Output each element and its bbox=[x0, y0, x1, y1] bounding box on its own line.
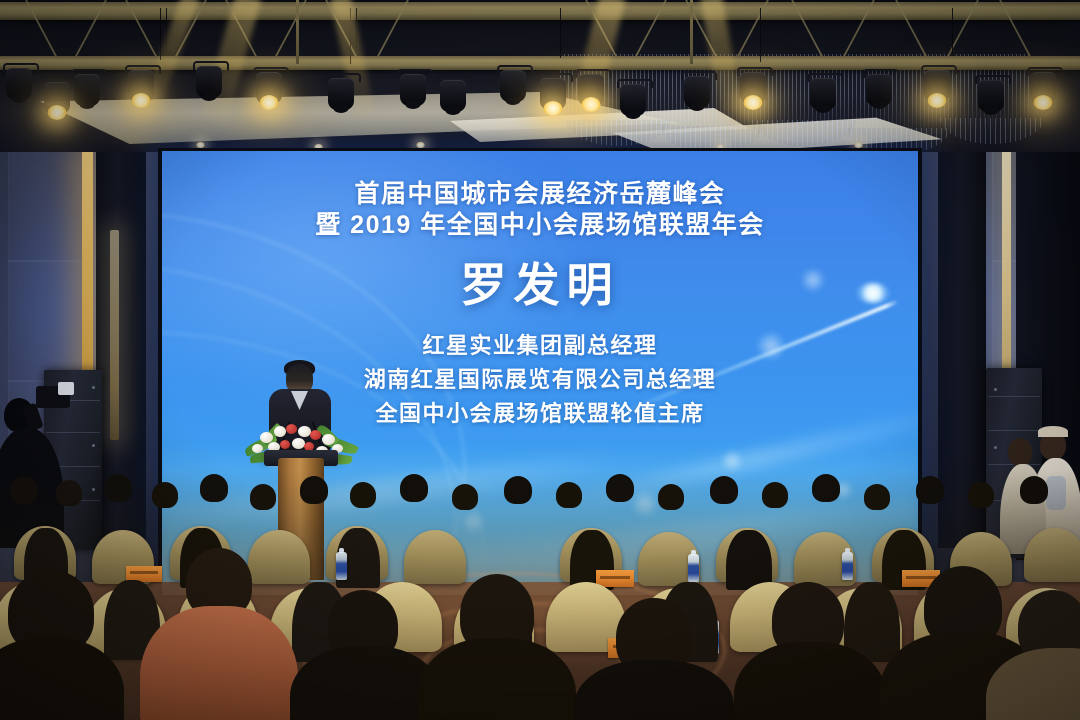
credential-line-3: 全国中小会展场馆联盟轮值主席 bbox=[364, 397, 717, 431]
truss-rail-lower bbox=[0, 56, 1080, 70]
audience-head bbox=[300, 476, 328, 504]
foreground-attendee-orange-coat bbox=[138, 548, 298, 720]
audience-head bbox=[916, 476, 944, 504]
water-bottle bbox=[336, 552, 347, 580]
credential-line-1: 红星实业集团副总经理 bbox=[364, 329, 717, 363]
audience-head bbox=[762, 482, 788, 508]
truss-rail-top bbox=[0, 2, 1080, 20]
audience-head bbox=[452, 484, 478, 510]
audience-head bbox=[56, 480, 82, 506]
stage-light-5 bbox=[256, 72, 282, 104]
foreground-attendee bbox=[582, 598, 722, 720]
stage-light-1 bbox=[6, 68, 32, 100]
stage-light-2 bbox=[74, 74, 100, 106]
water-bottle bbox=[842, 552, 853, 580]
screen-title-line-1: 首届中国城市会展经济岳麓峰会 bbox=[354, 179, 725, 210]
conference-photo-scene: 首届中国城市会展经济岳麓峰会 暨 2019 年全国中小会展场馆联盟年会 罗发明 … bbox=[0, 0, 1080, 720]
screen-title-line-2: 暨 2019 年全国中小会展场馆联盟年会 bbox=[315, 210, 765, 241]
screen-speaker-name: 罗发明 bbox=[461, 260, 620, 311]
stage-light-18 bbox=[44, 82, 70, 114]
audience-head bbox=[152, 482, 178, 508]
foreground-attendee bbox=[1000, 590, 1080, 720]
audience-head bbox=[350, 482, 376, 508]
stage-light-9 bbox=[578, 74, 604, 106]
audience-head bbox=[812, 474, 840, 502]
stage-light-7 bbox=[400, 74, 426, 106]
ceiling-lighting-rig bbox=[0, 0, 1080, 152]
audience-person bbox=[726, 530, 772, 590]
name-card bbox=[596, 570, 634, 587]
audience-head bbox=[1020, 476, 1048, 504]
foreground-attendee bbox=[0, 570, 110, 720]
audience-head bbox=[250, 484, 276, 510]
audience-head bbox=[710, 476, 738, 504]
left-inner-amber-strip bbox=[110, 230, 119, 440]
audience-head bbox=[200, 474, 228, 502]
foreground-attendee bbox=[424, 574, 564, 720]
stage-light-15 bbox=[924, 70, 950, 102]
audience-head bbox=[968, 482, 994, 508]
stage-light-8 bbox=[440, 80, 466, 112]
stage-light-16 bbox=[1030, 72, 1056, 104]
stage-light-4 bbox=[196, 66, 222, 98]
water-bottle bbox=[688, 554, 699, 582]
audience-head bbox=[658, 484, 684, 510]
stage-light-11 bbox=[684, 76, 710, 108]
audience-head bbox=[10, 476, 38, 504]
foreground-attendee bbox=[300, 590, 430, 720]
audience-head bbox=[104, 474, 132, 502]
credential-line-2: 湖南红星国际展览有限公司总经理 bbox=[364, 363, 717, 397]
audience-head bbox=[556, 482, 582, 508]
audience-seating bbox=[0, 470, 1080, 720]
stage-light-19 bbox=[500, 70, 526, 102]
foreground-attendee bbox=[744, 582, 874, 720]
stage-light-14 bbox=[866, 74, 892, 106]
stage-light-17 bbox=[978, 80, 1004, 112]
audience-head bbox=[606, 474, 634, 502]
stage-light-12 bbox=[740, 72, 766, 104]
stage-light-10 bbox=[620, 84, 646, 116]
audience-head bbox=[504, 476, 532, 504]
stage-light-3 bbox=[128, 70, 154, 102]
screen-credentials: 红星实业集团副总经理 湖南红星国际展览有限公司总经理 全国中小会展场馆联盟轮值主… bbox=[364, 329, 717, 431]
stage-light-6 bbox=[328, 78, 354, 110]
audience-head bbox=[864, 484, 890, 510]
audience-head bbox=[400, 474, 428, 502]
stage-light-13 bbox=[810, 78, 836, 110]
stage-light-20 bbox=[540, 78, 566, 110]
